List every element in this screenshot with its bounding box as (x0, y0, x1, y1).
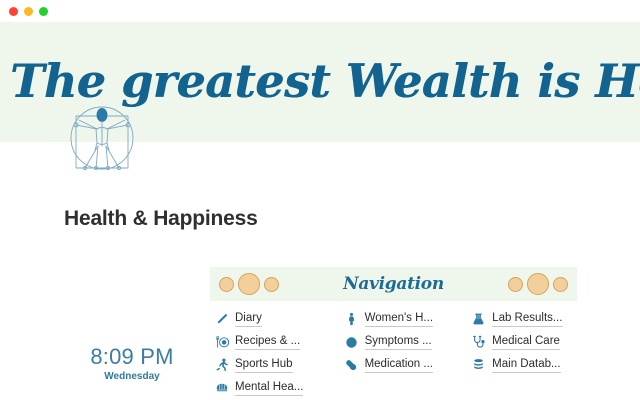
nav-item-label: Medical Care (492, 335, 560, 350)
navigation-header: Navigation (210, 267, 577, 301)
left-bubble-group (219, 273, 279, 295)
nav-item-label: Main Datab... (492, 358, 560, 373)
nav-item-label: Women's H... (365, 312, 433, 327)
decorative-bubble-icon (264, 277, 279, 292)
brain-icon (214, 381, 229, 396)
clock-day: Wednesday (62, 371, 202, 382)
clock-time: 8:09 PM (62, 344, 202, 369)
navigation-column-2: Women's H... Symptoms ... (344, 311, 472, 396)
female-person-icon (344, 312, 359, 327)
nav-item-label: Diary (235, 312, 262, 327)
fork-plate-icon (214, 335, 229, 350)
window-titlebar (0, 0, 640, 22)
stethoscope-icon (471, 335, 486, 350)
nav-item-label: Mental Hea... (235, 381, 303, 396)
navigation-column-1: Diary Recipes & ... (214, 311, 344, 396)
nav-item-sports-hub[interactable]: Sports Hub (214, 357, 344, 373)
window-maximize-button[interactable] (39, 7, 48, 16)
pill-icon (344, 358, 359, 373)
nav-item-main-database[interactable]: Main Datab... (471, 357, 577, 373)
running-person-icon (214, 358, 229, 373)
filled-circle-icon (344, 335, 359, 350)
pen-icon (214, 312, 229, 327)
navigation-card: Navigation Diary (210, 267, 577, 396)
nav-item-label: Sports Hub (235, 358, 293, 373)
window-close-button[interactable] (9, 7, 18, 16)
navigation-links: Diary Recipes & ... (210, 301, 577, 396)
nav-item-medication[interactable]: Medication ... (344, 357, 472, 373)
nav-item-recipes[interactable]: Recipes & ... (214, 334, 344, 350)
page-title: Health & Happiness (64, 207, 258, 231)
decorative-bubble-icon (508, 277, 523, 292)
navigation-column-3: Lab Results... Medical Care (471, 311, 577, 396)
clock-widget: 8:09 PM Wednesday (62, 344, 202, 382)
nav-item-label: Lab Results... (492, 312, 562, 327)
decorative-bubble-icon (238, 273, 260, 295)
nav-item-mental-health[interactable]: Mental Hea... (214, 380, 344, 396)
nav-item-medical-care[interactable]: Medical Care (471, 334, 577, 350)
nav-item-label: Medication ... (365, 358, 433, 373)
vitruvian-man-icon (60, 98, 144, 178)
nav-item-womens-health[interactable]: Women's H... (344, 311, 472, 327)
nav-item-diary[interactable]: Diary (214, 311, 344, 327)
decorative-bubble-icon (553, 277, 568, 292)
navigation-title: Navigation (343, 274, 444, 294)
database-icon (471, 358, 486, 373)
decorative-bubble-icon (219, 277, 234, 292)
nav-item-lab-results[interactable]: Lab Results... (471, 311, 577, 327)
flask-icon (471, 312, 486, 327)
window-minimize-button[interactable] (24, 7, 33, 16)
app-window: The greatest Wealth is Health (0, 0, 640, 400)
decorative-bubble-icon (527, 273, 549, 295)
nav-item-symptoms[interactable]: Symptoms ... (344, 334, 472, 350)
right-bubble-group (508, 273, 568, 295)
nav-item-label: Symptoms ... (365, 335, 432, 350)
nav-item-label: Recipes & ... (235, 335, 300, 350)
